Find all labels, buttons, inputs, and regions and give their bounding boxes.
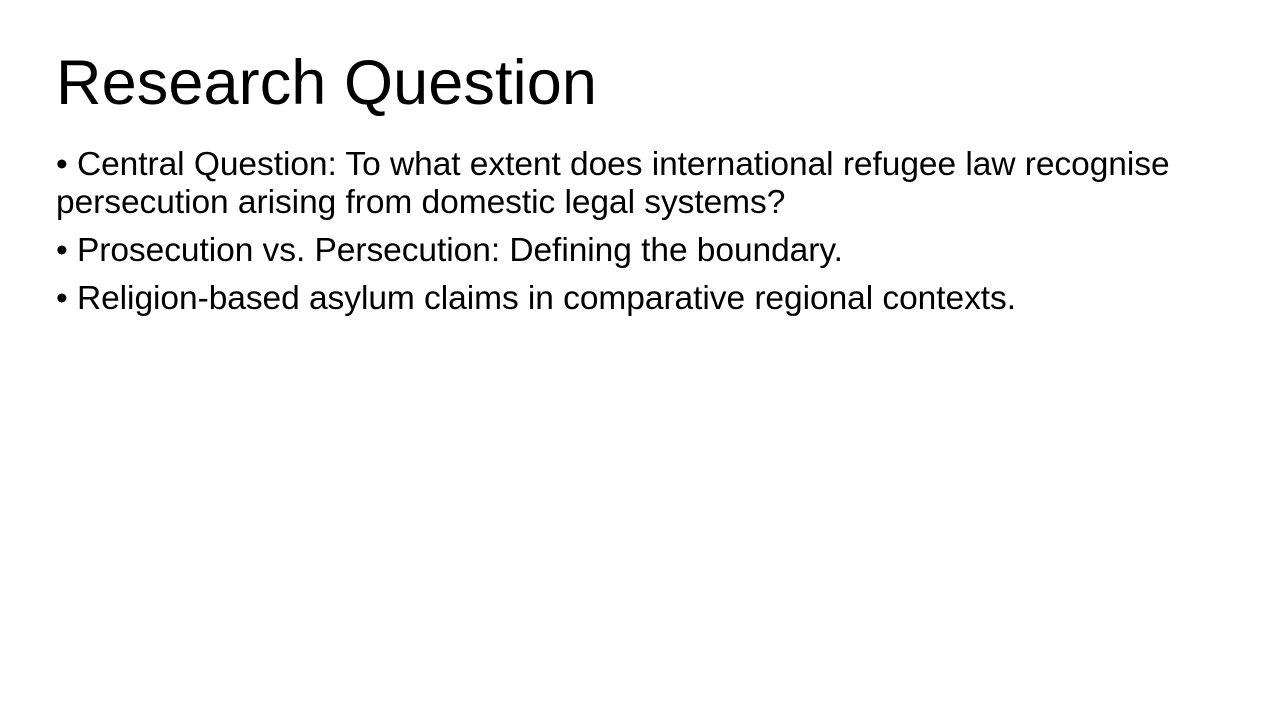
bullet-point-icon: •	[56, 232, 77, 269]
bullet-list: • Central Question: To what extent does …	[56, 146, 1202, 318]
bullet-point-icon: •	[56, 146, 77, 183]
list-item-text: Religion-based asylum claims in comparat…	[77, 280, 1016, 317]
page-title: Research Question	[56, 52, 1206, 115]
list-item: • Prosecution vs. Persecution: Defining …	[56, 232, 1202, 270]
list-item: • Religion-based asylum claims in compar…	[56, 280, 1202, 318]
list-item-text: Prosecution vs. Persecution: Defining th…	[77, 232, 843, 269]
list-item-text: Central Question: To what extent does in…	[56, 146, 1170, 221]
slide-canvas: Research Question • Central Question: To…	[0, 0, 1280, 720]
list-item: • Central Question: To what extent does …	[56, 146, 1202, 222]
bullet-point-icon: •	[56, 280, 77, 317]
